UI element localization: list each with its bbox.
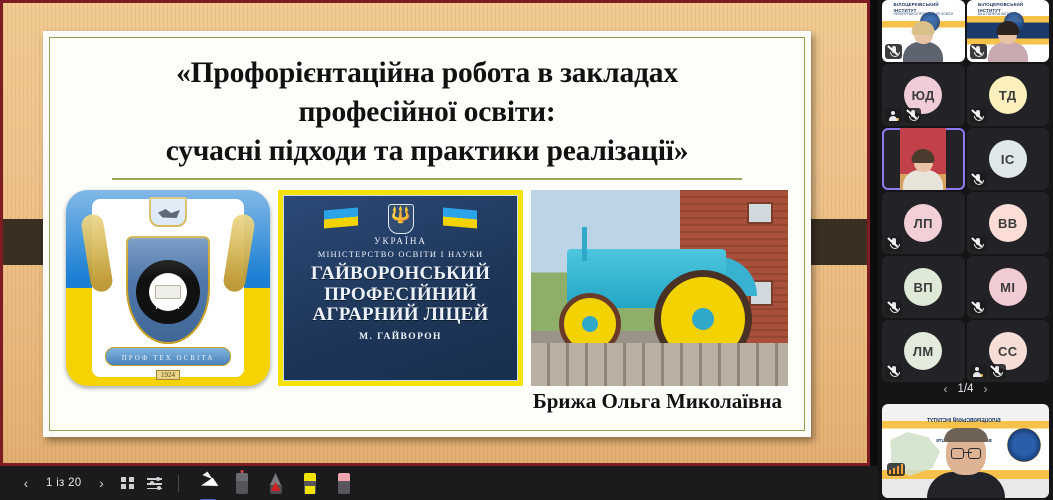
presentation-toolbar: ‹ 1 із 20 › [0, 466, 878, 500]
settings-sliders-icon[interactable] [142, 470, 167, 496]
cursor-icon [202, 472, 212, 483]
mic-muted-badge [885, 44, 902, 59]
microphone-off-icon [974, 174, 982, 185]
participant-avatar-is[interactable]: ІС [967, 128, 1050, 190]
avatar: ЛП [904, 204, 942, 242]
ukraine-flag-right-icon [443, 208, 477, 229]
microphone-off-icon [890, 46, 898, 57]
cursor-tool[interactable] [194, 469, 222, 497]
avatar: ВП [904, 268, 942, 306]
lyceum-emblem-image: ГПАЛ ПРОФ ТЕХ ОСВІТА 1924 [66, 190, 270, 386]
participant-avatar-lp[interactable]: ЛП [882, 192, 965, 254]
participants-page-label: 1/4 [958, 383, 974, 395]
person-head [946, 431, 986, 475]
participants-grid: БІЛОЦЕРКІВСЬКИЙ ІНСТИТУТНЕПЕРЕРВНОЇ ПРОФ… [882, 0, 1049, 376]
slide-counter: 1 із 20 [40, 477, 88, 489]
microphone-off-icon [974, 302, 982, 313]
plaque-name-2: ПРОФЕСІЙНИЙ [290, 285, 511, 306]
tile-badges [970, 108, 987, 123]
banner-text-line2: НЕПЕРЕРВНОЇ ПРОФЕСІЙНОЇ ОСВІТИ [894, 12, 963, 16]
tryzub-icon [388, 204, 414, 234]
title-line-3: сучасні підходи та практики реалізації» [66, 132, 788, 171]
tile-badges [970, 172, 987, 187]
microphone-off-icon [974, 238, 982, 249]
slide-title: «Профорієнтаційна робота в закладах проф… [66, 48, 788, 180]
tile-badges [970, 44, 987, 59]
participants-next-page[interactable]: › [984, 382, 988, 396]
banner-text-line2: BILA TSERKVA INSTITUTE [978, 12, 1047, 16]
mic-muted-badge [970, 108, 987, 123]
laser-pointer-tool[interactable] [228, 469, 256, 497]
person-torso [988, 42, 1028, 62]
slide-card-inner: «Профорієнтаційна робота в закладах проф… [49, 37, 805, 431]
glasses-icon [950, 448, 982, 459]
host-icon [889, 111, 899, 121]
pen-icon [270, 473, 282, 494]
title-line-1: «Профорієнтаційна робота в закладах [66, 54, 788, 93]
tile-badges [970, 300, 987, 315]
title-underline [112, 178, 742, 180]
participant-video-1[interactable]: БІЛОЦЕРКІВСЬКИЙ ІНСТИТУТНЕПЕРЕРВНОЇ ПРОФ… [882, 0, 965, 62]
participants-sidebar: БІЛОЦЕРКІВСЬКИЙ ІНСТИТУТНЕПЕРЕРВНОЇ ПРОФ… [878, 0, 1053, 500]
microphone-off-icon [890, 238, 898, 249]
microphone-off-icon [974, 110, 982, 121]
mic-muted-badge [970, 300, 987, 315]
tile-badges [970, 236, 987, 251]
microphone-off-icon [909, 110, 917, 121]
mic-muted-badge [970, 172, 987, 187]
red-pen-tool[interactable] [262, 469, 290, 497]
grid-view-icon[interactable] [116, 470, 140, 496]
highlighter-tool[interactable] [296, 469, 324, 497]
building-window-1 [747, 202, 773, 224]
plaque-inner: УКРАЇНА МІНІСТЕРСТВО ОСВІТИ І НАУКИ ГАЙВ… [283, 195, 518, 381]
highlighter-icon [304, 473, 316, 494]
person-silhouette [903, 151, 943, 190]
microphone-off-icon [993, 366, 1001, 377]
laser-pointer-icon [236, 473, 248, 494]
plaque-city: М. ГАЙВОРОН [290, 332, 511, 342]
mic-muted-badge [970, 236, 987, 251]
plaque-ministry: МІНІСТЕРСТВО ОСВІТИ І НАУКИ [290, 249, 511, 259]
self-view-person [927, 431, 1005, 498]
microphone-off-icon [890, 302, 898, 313]
plaque-name-3: АГРАРНИЙ ЛІЦЕЙ [290, 305, 511, 326]
host-badge [885, 108, 902, 123]
microphone-off-icon [974, 46, 982, 57]
eraser-icon [338, 473, 350, 494]
presentation-stage: «Профорієнтаційна робота в закладах проф… [0, 0, 878, 500]
toolbar-divider [178, 475, 179, 492]
tractor-exhaust-stack [582, 227, 587, 261]
next-slide-button[interactable]: › [90, 470, 114, 496]
slide-author: Брижа Ольга Миколаївна [533, 389, 782, 414]
emblem-gloss [66, 190, 270, 386]
mic-muted-badge [989, 364, 1006, 379]
avatar: МІ [989, 268, 1027, 306]
mic-muted-badge [904, 108, 921, 123]
person-silhouette [988, 23, 1028, 62]
tile-badges [885, 108, 921, 123]
video-feed [882, 128, 965, 190]
self-view-tile[interactable]: БІЛОЦЕРКІВСЬКИЙ ІНСТИТУТ BILA TSERKVA IN… [882, 404, 1049, 498]
participant-video-2[interactable]: БІЛОЦЕРКІВСЬКИЙ ІНСТИТУТBILA TSERKVA INS… [967, 0, 1050, 62]
participants-prev-page[interactable]: ‹ [944, 382, 948, 396]
avatar: ТД [989, 76, 1027, 114]
lyceum-plaque-image: УКРАЇНА МІНІСТЕРСТВО ОСВІТИ І НАУКИ ГАЙВ… [278, 190, 523, 386]
person-silhouette [903, 23, 943, 62]
participant-avatar-yud[interactable]: ЮД [882, 64, 965, 126]
slide-card: «Профорієнтаційна робота в закладах проф… [43, 31, 811, 437]
person-torso [903, 170, 943, 190]
tile-badges [885, 44, 902, 59]
avatar: ЛМ [904, 332, 942, 370]
person-torso [927, 472, 1005, 498]
slide-image-row: ГПАЛ ПРОФ ТЕХ ОСВІТА 1924 [66, 190, 788, 386]
mic-muted-badge [885, 236, 902, 251]
title-line-2: професійної освіти: [66, 93, 788, 132]
network-signal-icon [887, 463, 905, 476]
tractor-photo [531, 190, 788, 386]
person-torso [903, 42, 943, 62]
participant-avatar-mi[interactable]: МІ [967, 256, 1050, 318]
banner-seal-icon [1007, 428, 1041, 462]
mic-muted-badge [885, 364, 902, 379]
app-root: «Профорієнтаційна робота в закладах проф… [0, 0, 1053, 500]
microphone-off-icon [890, 366, 898, 377]
eraser-tool[interactable] [330, 469, 358, 497]
slide-frame: «Профорієнтаційна робота в закладах проф… [0, 0, 870, 466]
participant-avatar-vv[interactable]: ВВ [967, 192, 1050, 254]
participant-avatar-vp[interactable]: ВП [882, 256, 965, 318]
participants-pager: ‹ 1/4 › [878, 378, 1053, 400]
avatar: ВВ [989, 204, 1027, 242]
host-icon [973, 367, 983, 377]
stone-wall [531, 343, 788, 386]
tile-badges [970, 364, 1006, 379]
person-hair [944, 428, 988, 442]
tile-badges [885, 300, 902, 315]
mic-muted-badge [885, 300, 902, 315]
host-badge [970, 364, 987, 379]
mic-muted-badge [970, 44, 987, 59]
slide-canvas[interactable]: «Профорієнтаційна робота в закладах проф… [3, 3, 867, 463]
self-view-banner-line1: БІЛОЦЕРКІВСЬКИЙ ІНСТИТУТ [912, 418, 1016, 425]
prev-slide-button[interactable]: ‹ [14, 470, 38, 496]
participant-video-3[interactable] [882, 128, 965, 190]
participant-avatar-td[interactable]: ТД [967, 64, 1050, 126]
plaque-flags [290, 204, 511, 234]
plaque-country: УКРАЇНА [290, 236, 511, 246]
participant-avatar-lm[interactable]: ЛМ [882, 320, 965, 382]
tile-badges [885, 236, 902, 251]
tile-badges [885, 364, 902, 379]
ukraine-flag-left-icon [324, 208, 358, 229]
plaque-name-1: ГАЙВОРОНСЬКИЙ [290, 264, 511, 285]
avatar: ІС [989, 140, 1027, 178]
participant-avatar-ss[interactable]: СС [967, 320, 1050, 382]
